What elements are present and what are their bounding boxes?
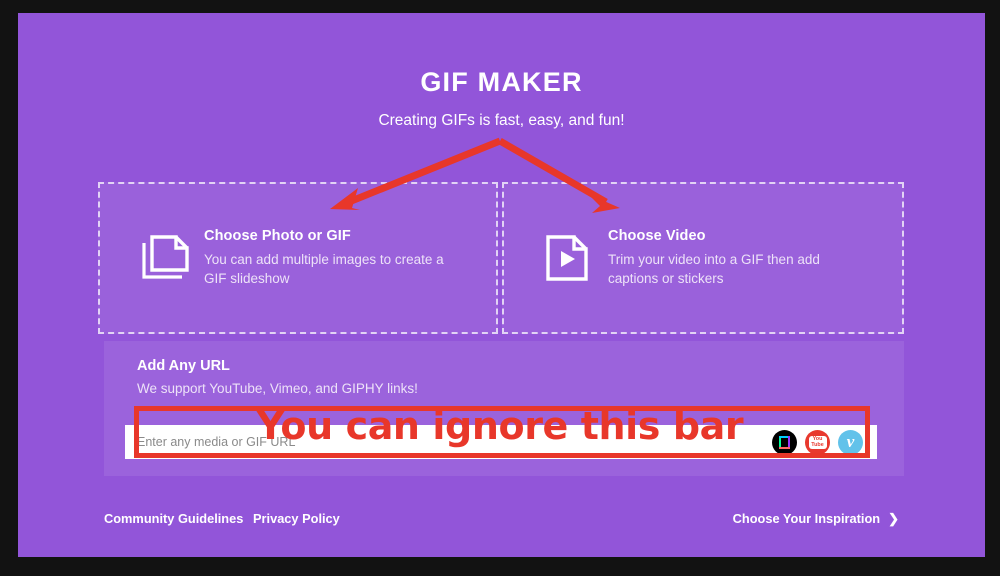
video-file-play-icon: [530, 234, 604, 282]
add-any-url-panel: Add Any URL We support YouTube, Vimeo, a…: [104, 341, 904, 476]
gif-maker-page: GIF MAKER Creating GIFs is fast, easy, a…: [18, 13, 985, 557]
giphy-icon[interactable]: [772, 430, 797, 455]
choose-your-inspiration-link[interactable]: Choose Your Inspiration❯: [733, 511, 899, 527]
page-footer: Community Guidelines Privacy Policy Choo…: [18, 493, 985, 543]
choose-video-title: Choose Video: [608, 228, 858, 244]
vimeo-glyph: v: [847, 433, 855, 450]
page-header: GIF MAKER Creating GIFs is fast, easy, a…: [18, 13, 985, 130]
supported-sites-icons: You Tube v: [772, 430, 877, 455]
inspiration-label: Choose Your Inspiration: [733, 511, 880, 526]
page-title: GIF MAKER: [18, 13, 985, 98]
vimeo-icon[interactable]: v: [838, 430, 863, 455]
add-url-subtitle: We support YouTube, Vimeo, and GIPHY lin…: [137, 381, 418, 396]
choose-photo-description: You can add multiple images to create a …: [204, 250, 454, 288]
page-subtitle: Creating GIFs is fast, easy, and fun!: [18, 98, 985, 130]
url-input[interactable]: [125, 434, 772, 450]
privacy-policy-link[interactable]: Privacy Policy: [253, 511, 340, 526]
youtube-icon[interactable]: You Tube: [805, 430, 830, 455]
choose-photo-title: Choose Photo or GIF: [204, 228, 454, 244]
choose-photo-or-gif-card[interactable]: Choose Photo or GIF You can add multiple…: [98, 182, 498, 334]
screenshot-root: GIF MAKER Creating GIFs is fast, easy, a…: [0, 0, 1000, 576]
community-guidelines-link[interactable]: Community Guidelines: [104, 511, 243, 526]
youtube-glyph: You Tube: [809, 436, 827, 449]
stacked-photos-icon: [126, 235, 200, 281]
choose-video-description: Trim your video into a GIF then add capt…: [608, 250, 858, 288]
url-input-row[interactable]: You Tube v: [125, 425, 877, 459]
choose-video-text-group: Choose Video Trim your video into a GIF …: [604, 228, 858, 288]
add-url-title: Add Any URL: [137, 358, 230, 374]
youtube-line-2: Tube: [809, 442, 827, 448]
choose-photo-text-group: Choose Photo or GIF You can add multiple…: [200, 228, 454, 288]
choose-video-card[interactable]: Choose Video Trim your video into a GIF …: [502, 182, 904, 334]
chevron-right-icon: ❯: [888, 511, 899, 527]
